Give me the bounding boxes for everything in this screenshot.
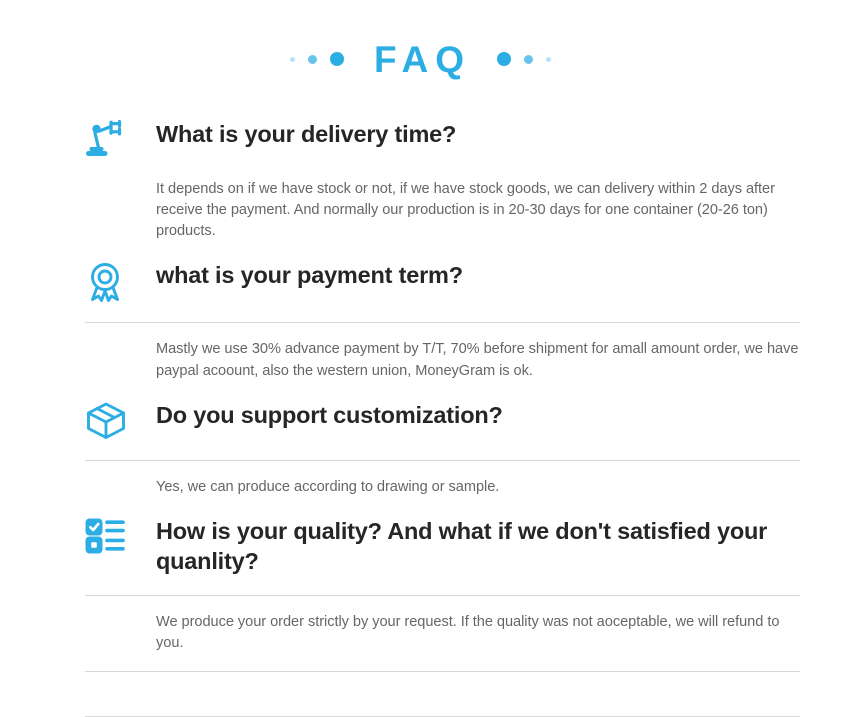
faq-list: What is your delivery time? It depends o… [0, 118, 841, 717]
spacer [85, 303, 800, 322]
faq-question-label: Do you support customization? [156, 399, 503, 430]
robotic-arm-icon [85, 118, 156, 160]
faq-item-answer: We produce your order strictly by your r… [85, 612, 800, 654]
spacer [85, 382, 800, 399]
header-dots-right [497, 52, 551, 66]
award-ribbon-icon [85, 259, 156, 303]
faq-question-label: How is your quality? And what if we don'… [156, 515, 800, 576]
faq-item-question[interactable]: What is your delivery time? [85, 118, 800, 160]
decorative-dot [524, 55, 533, 64]
faq-answer-label: Mastly we use 30% advance payment by T/T… [156, 339, 800, 381]
faq-question-label: What is your delivery time? [156, 118, 456, 149]
spacer [85, 242, 800, 259]
package-box-icon [85, 399, 156, 441]
spacer [85, 160, 800, 179]
spacer [85, 498, 800, 515]
faq-answer-label: We produce your order strictly by your r… [156, 612, 800, 654]
header-dots-left [290, 52, 344, 66]
faq-answer-label: It depends on if we have stock or not, i… [156, 179, 800, 242]
decorative-dot [330, 52, 344, 66]
checklist-icon [85, 515, 156, 555]
faq-item-answer: Yes, we can produce according to drawing… [85, 477, 800, 498]
faq-header: FAQ [0, 0, 841, 118]
spacer [85, 672, 800, 716]
faq-item-answer: It depends on if we have stock or not, i… [85, 179, 800, 242]
spacer [85, 596, 800, 612]
faq-item-question[interactable]: How is your quality? And what if we don'… [85, 515, 800, 576]
decorative-dot [497, 52, 511, 66]
decorative-dot [290, 57, 295, 62]
spacer [85, 654, 800, 671]
spacer [85, 323, 800, 339]
decorative-dot [546, 57, 551, 62]
faq-item-question[interactable]: what is your payment term? [85, 259, 800, 303]
spacer [85, 461, 800, 477]
spacer [85, 441, 800, 460]
faq-answer-label: Yes, we can produce according to drawing… [156, 477, 800, 498]
page-title: FAQ [374, 41, 471, 78]
decorative-dot [308, 55, 317, 64]
faq-item-question[interactable]: Do you support customization? [85, 399, 800, 441]
spacer [85, 576, 800, 595]
faq-question-label: what is your payment term? [156, 259, 463, 290]
faq-item-answer: Mastly we use 30% advance payment by T/T… [85, 339, 800, 381]
